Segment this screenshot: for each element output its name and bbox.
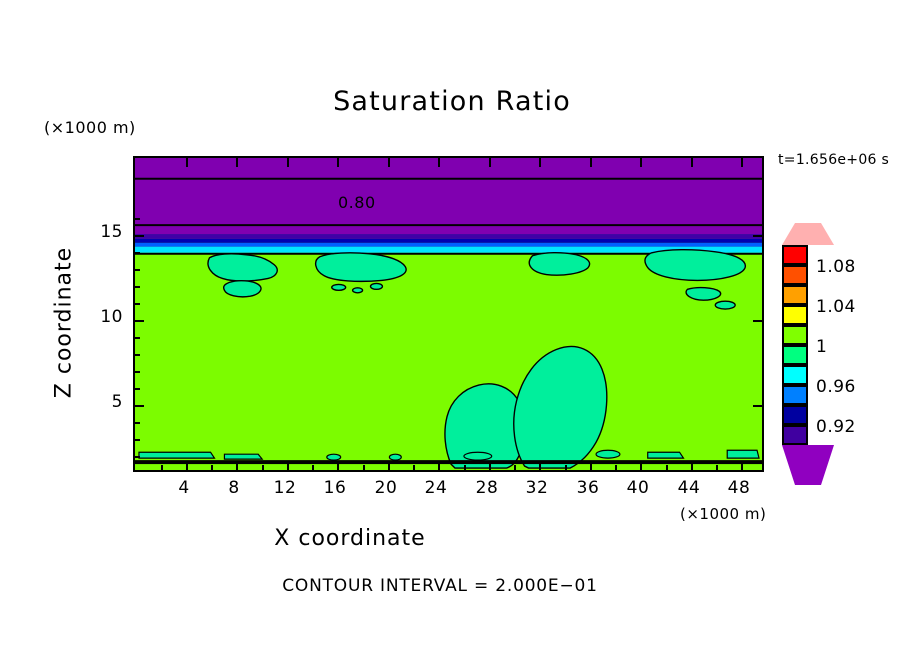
contour-label-080: 0.80	[335, 193, 379, 212]
y-tick-minor	[135, 252, 140, 254]
x-tick-minor	[514, 465, 516, 470]
y-axis-units-label: (×1000 m)	[44, 118, 136, 137]
y-tick-right	[753, 235, 762, 237]
x-tick-major	[438, 461, 440, 470]
colorbar-cell[interactable]	[782, 425, 808, 445]
x-tick-minor	[211, 465, 213, 470]
x-tick-major	[590, 461, 592, 470]
x-axis-title: X coordinate	[0, 526, 700, 551]
x-tick-label: 32	[517, 478, 557, 498]
x-tick-minor	[262, 465, 264, 470]
y-tick-minor	[135, 354, 140, 356]
y-tick-minor	[135, 456, 140, 458]
x-tick-label: 20	[366, 478, 406, 498]
x-tick-minor	[363, 465, 365, 470]
x-tick-minor	[666, 465, 668, 470]
colorbar-tick-label: 1	[816, 337, 827, 357]
colorbar-cell[interactable]	[782, 265, 808, 285]
colorbar-cell[interactable]	[782, 245, 808, 265]
y-tick-label: 5	[83, 392, 123, 412]
figure-canvas: Saturation Ratio (×1000 m) (×1000 m) X c…	[0, 0, 904, 654]
x-tick-label: 48	[719, 478, 759, 498]
x-tick-label: 28	[467, 478, 507, 498]
y-tick-minor	[135, 388, 140, 390]
x-tick-label: 44	[669, 478, 709, 498]
x-tick-major	[741, 461, 743, 470]
y-tick-minor	[135, 371, 140, 373]
colorbar-cell[interactable]	[782, 385, 808, 405]
x-tick-label: 24	[416, 478, 456, 498]
x-tick-minor	[464, 465, 466, 470]
x-tick-major	[287, 461, 289, 470]
y-tick-label: 10	[83, 307, 123, 327]
x-tick-top	[438, 158, 440, 167]
y-tick-right	[753, 405, 762, 407]
x-tick-label: 36	[568, 478, 608, 498]
x-tick-top	[186, 158, 188, 167]
x-tick-label: 12	[265, 478, 305, 498]
x-tick-label: 4	[164, 478, 204, 498]
contour-interval-note: CONTOUR INTERVAL = 2.000E−01	[0, 576, 880, 596]
colorbar-cell[interactable]	[782, 405, 808, 425]
x-tick-minor	[565, 465, 567, 470]
colorbar-tick-label: 1.04	[816, 297, 856, 317]
colorbar-tick-label: 0.92	[816, 417, 856, 437]
colorbar-cell[interactable]	[782, 305, 808, 325]
x-tick-label: 8	[214, 478, 254, 498]
colorbar-over-arrow	[782, 223, 834, 245]
y-tick-minor	[135, 303, 140, 305]
colorbar-cell[interactable]	[782, 325, 808, 345]
x-tick-major	[640, 461, 642, 470]
x-tick-top	[489, 158, 491, 167]
colorbar-cell[interactable]	[782, 365, 808, 385]
y-tick-minor	[135, 286, 140, 288]
x-tick-top	[287, 158, 289, 167]
x-tick-major	[691, 461, 693, 470]
colorbar-under-arrow	[782, 445, 834, 485]
contour-field	[135, 158, 762, 470]
y-tick-major	[135, 235, 144, 237]
colorbar-cell[interactable]	[782, 345, 808, 365]
x-tick-top	[539, 158, 541, 167]
x-tick-major	[236, 461, 238, 470]
timestamp-label: t=1.656e+06 s	[778, 152, 889, 168]
y-tick-minor	[135, 439, 140, 441]
x-tick-label: 16	[315, 478, 355, 498]
x-tick-minor	[161, 465, 163, 470]
x-tick-minor	[716, 465, 718, 470]
x-tick-minor	[615, 465, 617, 470]
x-tick-major	[489, 461, 491, 470]
x-tick-top	[741, 158, 743, 167]
colorbar-tick-label: 0.96	[816, 377, 856, 397]
x-tick-top	[388, 158, 390, 167]
x-tick-major	[186, 461, 188, 470]
x-tick-major	[337, 461, 339, 470]
y-tick-minor	[135, 218, 140, 220]
y-tick-major	[135, 405, 144, 407]
page-title: Saturation Ratio	[0, 86, 904, 117]
y-axis-title: Z coordinate	[52, 213, 77, 433]
x-tick-top	[236, 158, 238, 167]
x-tick-top	[337, 158, 339, 167]
y-tick-minor	[135, 422, 140, 424]
x-tick-top	[590, 158, 592, 167]
x-tick-top	[640, 158, 642, 167]
x-tick-top	[691, 158, 693, 167]
y-tick-major	[135, 320, 144, 322]
colorbar-tick-label: 1.08	[816, 257, 856, 277]
x-tick-minor	[312, 465, 314, 470]
x-tick-minor	[413, 465, 415, 470]
x-tick-label: 40	[618, 478, 658, 498]
x-axis-units-label: (×1000 m)	[680, 505, 766, 523]
y-tick-minor	[135, 337, 140, 339]
x-tick-major	[539, 461, 541, 470]
y-tick-minor	[135, 269, 140, 271]
colorbar[interactable]	[782, 245, 808, 485]
x-tick-major	[388, 461, 390, 470]
colorbar-cell[interactable]	[782, 285, 808, 305]
y-tick-right	[753, 320, 762, 322]
contour-plot-area[interactable]: 0.80	[133, 156, 764, 472]
y-tick-label: 15	[83, 222, 123, 242]
